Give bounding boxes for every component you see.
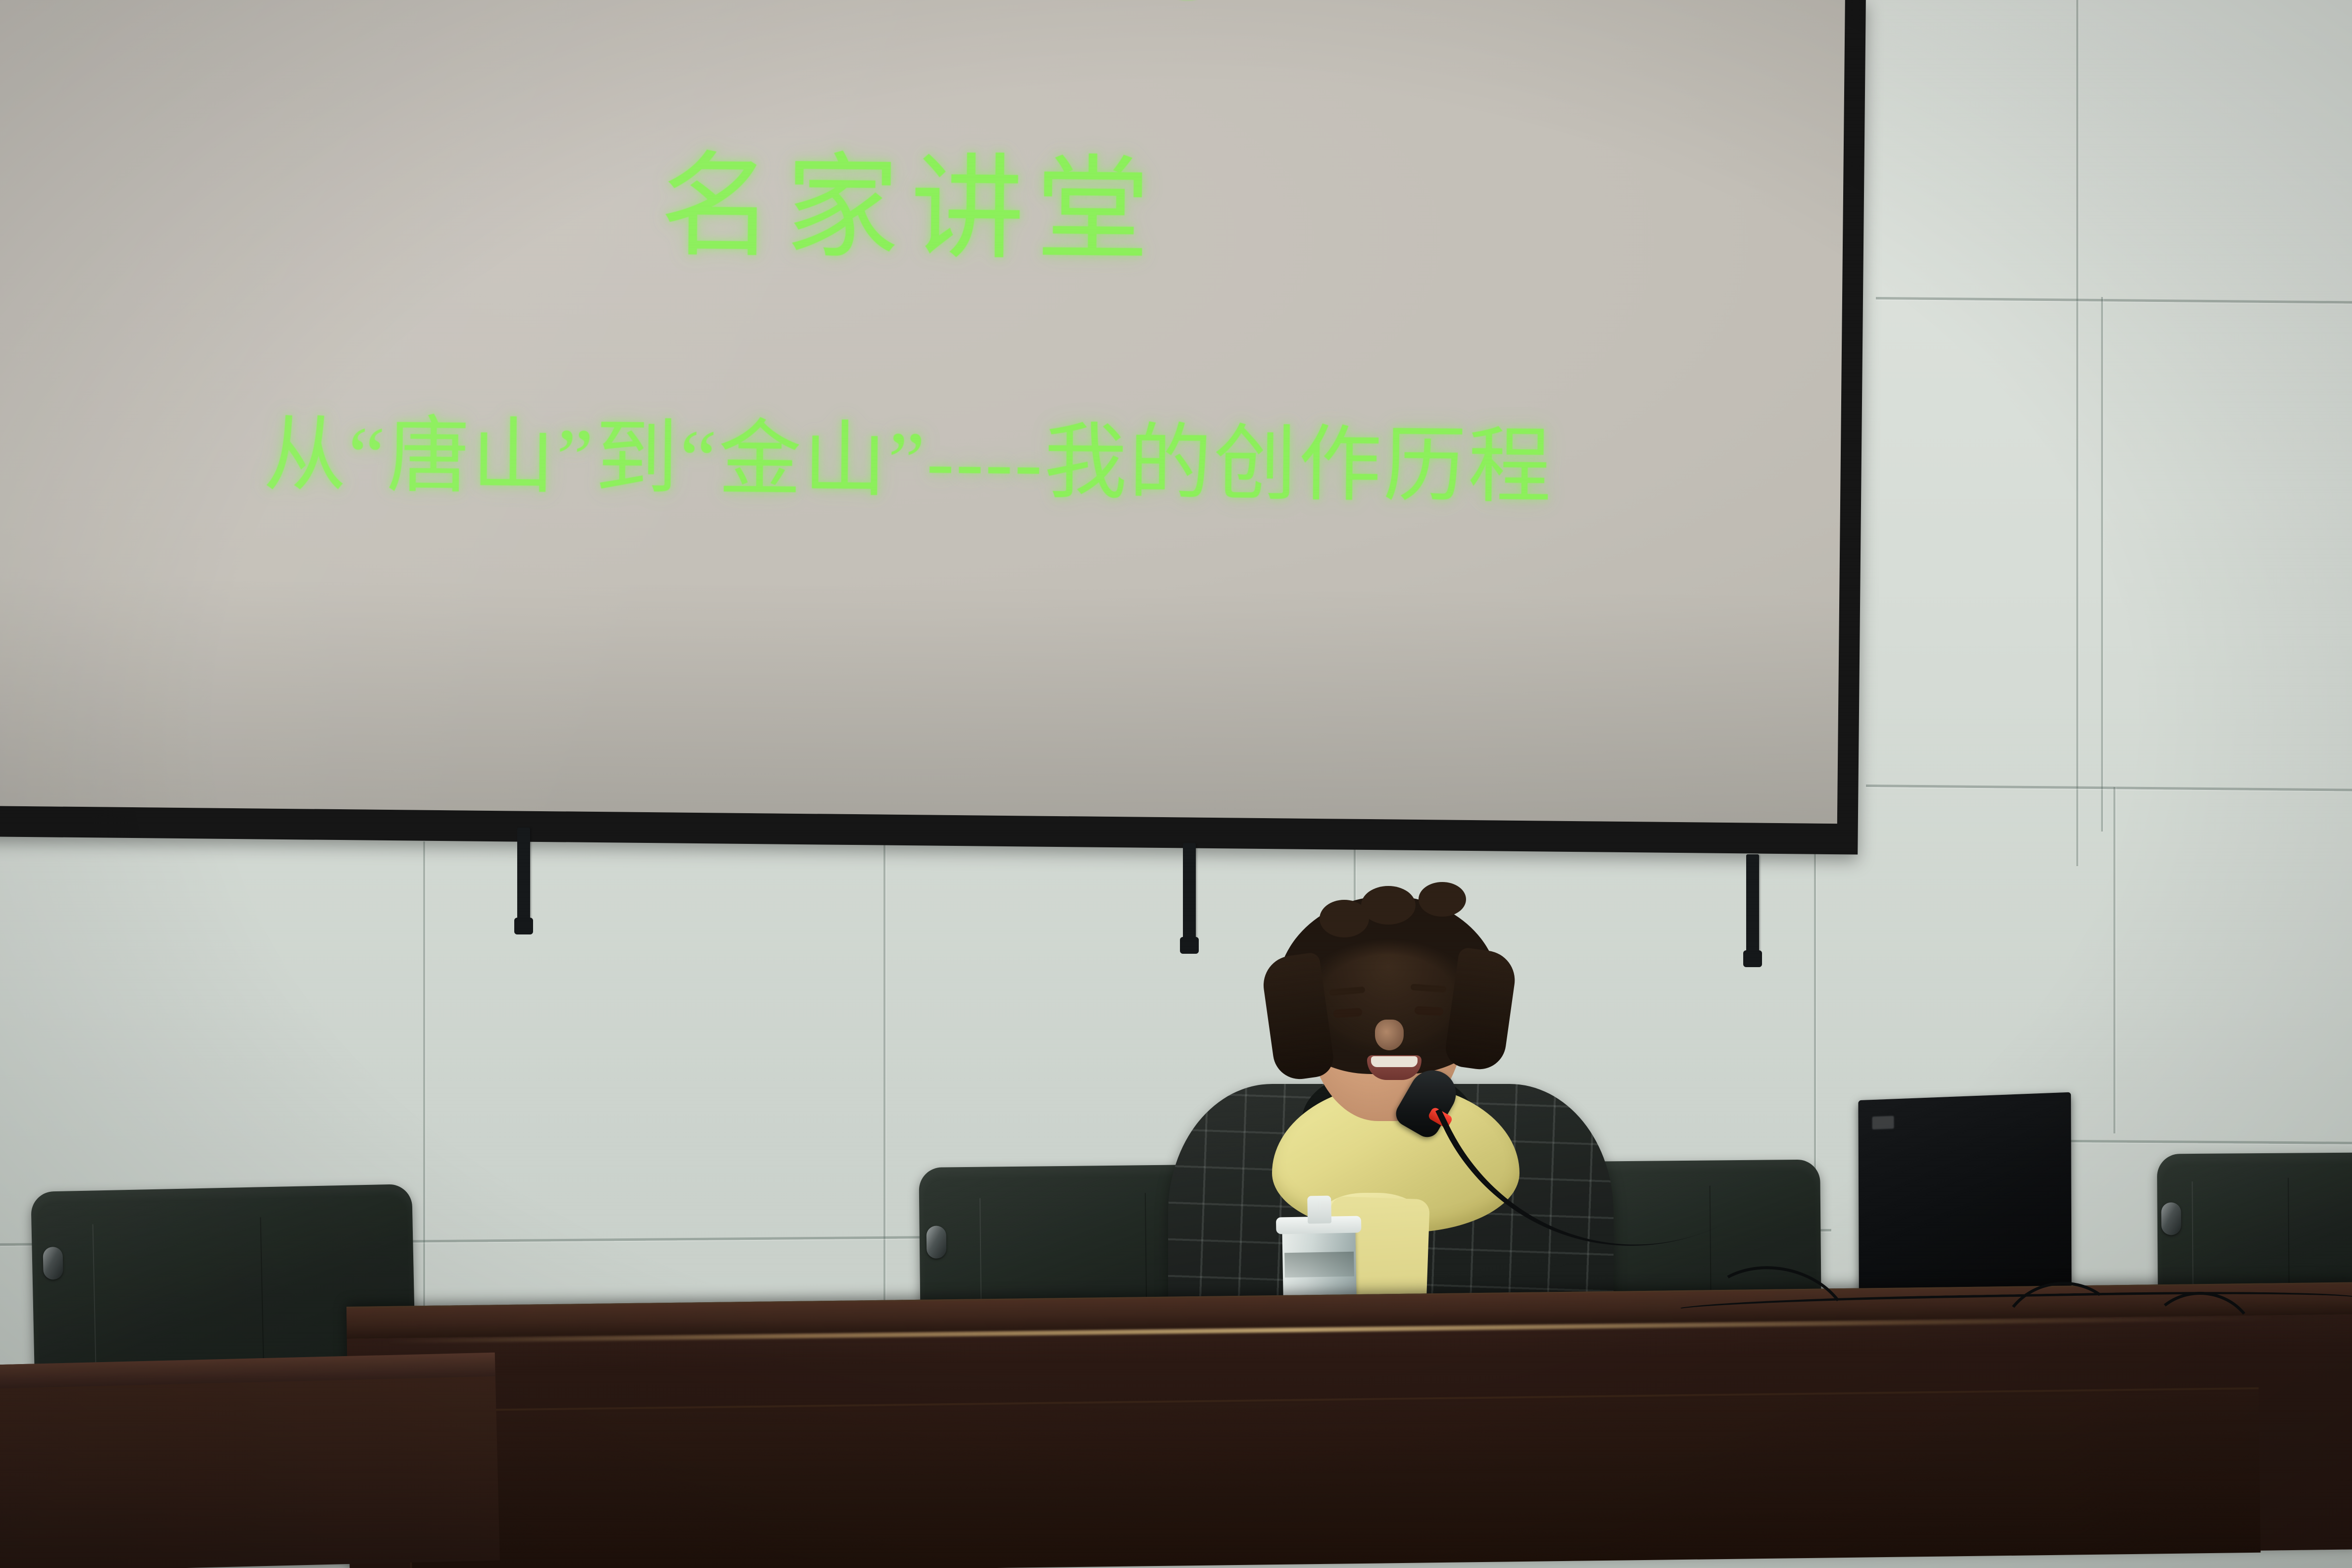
wall-seam [883, 841, 885, 1341]
black-laptop[interactable] [1858, 1092, 2071, 1309]
table-front-panel [408, 1387, 2260, 1568]
slide-title: 名家讲堂 [0, 144, 1844, 275]
chair-pivot-knob [927, 1225, 947, 1258]
screen-strap-left [517, 828, 530, 927]
laptop-logo [1872, 1116, 1894, 1129]
hair-curl [1361, 886, 1416, 925]
podium [0, 1353, 500, 1568]
speaker-nose [1375, 1020, 1404, 1050]
screen-strap-right [1746, 854, 1759, 959]
speaker-teeth [1371, 1056, 1418, 1067]
wall-seam [2076, 0, 2078, 866]
wall-seam [2113, 787, 2115, 1133]
chair-pivot-knob [43, 1247, 63, 1280]
hair-curl [1419, 882, 1466, 917]
chair-pivot-knob [2161, 1202, 2181, 1235]
wall-seam [423, 841, 425, 1336]
projection-screen: 名家讲堂 从“唐山”到“金山”----我的创作历程 [0, 0, 1866, 854]
hair-curl [1320, 900, 1369, 937]
cup-band [1284, 1252, 1354, 1277]
projection-surface: 名家讲堂 从“唐山”到“金山”----我的创作历程 [0, 0, 1845, 824]
speaker-eye-right [1415, 1006, 1444, 1016]
cup-spout [1307, 1196, 1331, 1224]
photograph-canvas: 名家讲堂 从“唐山”到“金山”----我的创作历程 [0, 0, 2352, 1568]
wall-seam [2101, 297, 2103, 832]
slide-subtitle: 从“唐山”到“金山”----我的创作历程 [0, 411, 1841, 512]
